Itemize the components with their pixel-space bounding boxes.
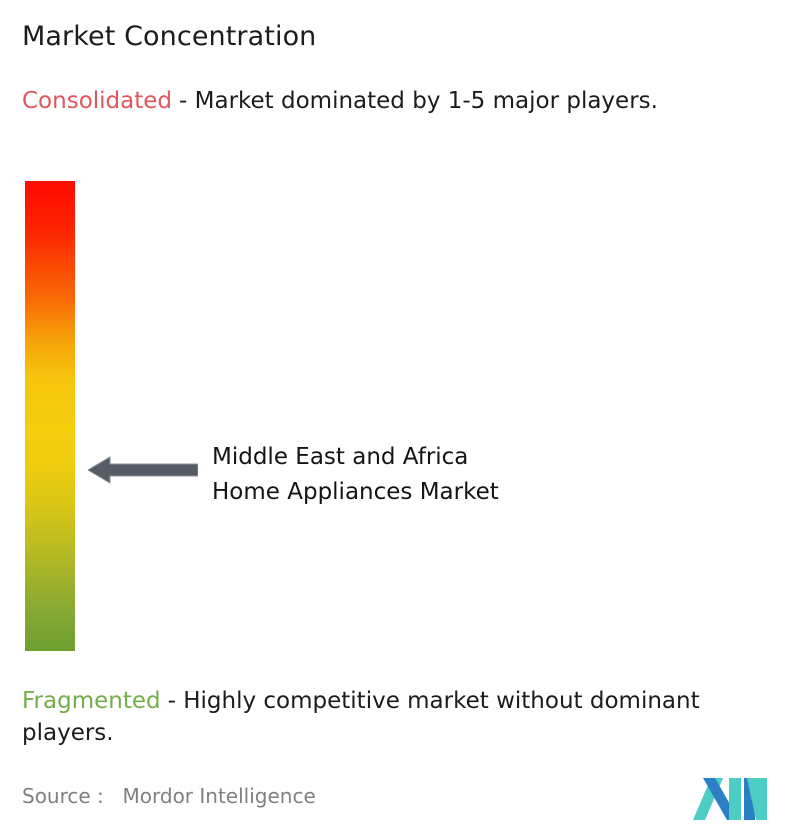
legend-consolidated: Consolidated- Market dominated by 1-5 ma…	[22, 85, 774, 117]
page-title: Market Concentration	[22, 20, 316, 54]
legend-fragmented: Fragmented- Highly competitive market wi…	[22, 685, 788, 749]
source-name: Mordor Intelligence	[123, 784, 316, 808]
legend-fragmented-keyword: Fragmented	[22, 688, 161, 714]
legend-consolidated-keyword: Consolidated	[22, 88, 172, 114]
mordor-intelligence-logo-icon	[691, 768, 769, 820]
source-label: Source :	[22, 784, 104, 808]
market-concentration-infographic: Market Concentration Consolidated- Marke…	[0, 0, 796, 834]
market-callout-label: Middle East and Africa Home Appliances M…	[212, 440, 499, 510]
market-callout-line1: Middle East and Africa	[212, 440, 499, 475]
market-concentration-scale-bar	[25, 181, 75, 651]
market-callout-line2: Home Appliances Market	[212, 475, 499, 510]
source-attribution: Source : Mordor Intelligence	[22, 782, 316, 810]
market-callout: Middle East and Africa Home Appliances M…	[88, 440, 688, 510]
legend-consolidated-description: - Market dominated by 1-5 major players.	[179, 88, 658, 114]
left-arrow-icon	[88, 454, 198, 486]
